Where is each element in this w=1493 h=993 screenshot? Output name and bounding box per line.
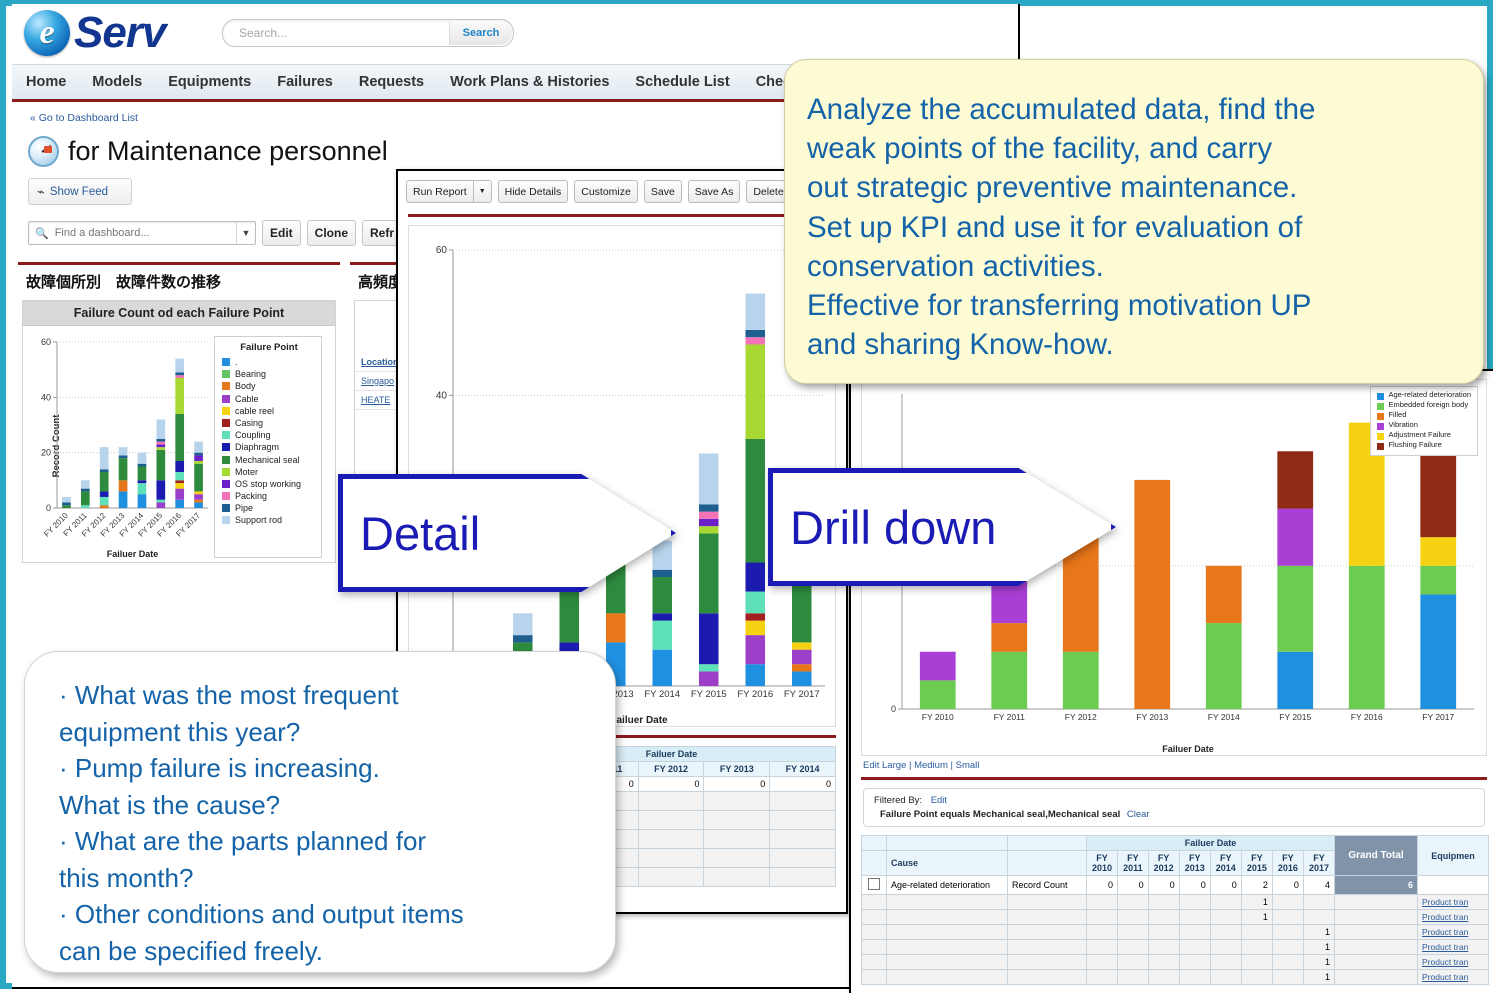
bar-segment <box>62 497 71 503</box>
filter-clear-link[interactable]: Clear <box>1127 809 1150 820</box>
cell <box>887 910 1008 925</box>
detail-year-head: FY 2013 <box>704 762 770 777</box>
legend-label: Pipe <box>235 503 253 513</box>
bar-segment <box>119 480 128 491</box>
search-input[interactable] <box>237 25 449 41</box>
filter-panel: Filtered By: Edit Failure Point equals M… <box>863 788 1485 827</box>
cell <box>1210 970 1241 985</box>
svg-text:0: 0 <box>46 503 51 513</box>
bar-segment <box>138 494 147 508</box>
drilldown-pivot-table: Failuer Date Grand Total Equipmen Cause … <box>861 835 1489 985</box>
bar-segment <box>991 652 1027 709</box>
app-header: Serv Search <box>12 4 1018 64</box>
measure-col-head-blank <box>1008 836 1087 851</box>
legend-swatch <box>1377 393 1384 400</box>
cell <box>1335 925 1418 940</box>
customize-button[interactable]: Customize <box>574 180 638 203</box>
bar-segment <box>175 359 184 373</box>
cell <box>1087 925 1118 940</box>
bar-segment <box>745 562 765 591</box>
equipment-cell[interactable]: Product tran <box>1418 895 1489 910</box>
bar-segment <box>991 623 1027 652</box>
bar-segment <box>1206 566 1242 623</box>
legend-swatch <box>1377 403 1384 410</box>
cell <box>862 940 887 955</box>
bar-segment <box>119 455 128 458</box>
cause-col-head: Cause <box>887 851 1008 876</box>
table-row: 1Product tran <box>862 940 1489 955</box>
cell: 1 <box>1241 910 1272 925</box>
chart1-plot: Record Count 0204060FY 2010FY 2011FY 201… <box>27 332 212 560</box>
note-line: out strategic preventive maintenance. <box>807 168 1457 207</box>
bar-segment <box>559 592 579 643</box>
cause-cell: Age-related deterioration <box>887 876 1008 895</box>
find-dashboard-combo[interactable]: 🔍 ▼ <box>28 221 256 245</box>
dd-year-head: FY 2013 <box>1179 851 1210 876</box>
legend-item: OS stop working <box>222 479 316 489</box>
bar-segment <box>175 489 184 500</box>
bar-segment <box>652 650 672 686</box>
bar-segment <box>699 504 719 511</box>
legend-label: Mechanical seal <box>235 455 300 465</box>
question-line: · What are the parts planned for <box>59 824 591 859</box>
cell <box>887 925 1008 940</box>
cell <box>862 970 887 985</box>
filter-edit-link[interactable]: Edit <box>931 795 947 806</box>
find-dashboard-input[interactable] <box>53 226 236 240</box>
cell <box>1335 970 1418 985</box>
bar-segment <box>194 464 203 492</box>
legend-swatch <box>1377 423 1384 430</box>
bar-segment <box>100 491 109 497</box>
legend-item: Packing <box>222 491 316 501</box>
question-line: equipment this year? <box>59 715 591 750</box>
bar-segment <box>194 453 203 456</box>
cell <box>1148 925 1179 940</box>
bar-segment <box>194 461 203 464</box>
bar-segment <box>1277 652 1313 709</box>
callout-note: Analyze the accumulated data, find the w… <box>784 59 1484 384</box>
nav-item-models[interactable]: Models <box>92 74 142 90</box>
chart-small-link[interactable]: Small <box>956 760 980 771</box>
eserv-logo-text: Serv <box>74 11 165 55</box>
bar-segment <box>792 664 812 671</box>
legend-item: Cable <box>222 394 316 404</box>
legend-swatch <box>222 480 230 488</box>
bar-segment <box>699 526 719 533</box>
bar-segment <box>1206 623 1242 709</box>
detail-arrow-label: Detail <box>338 474 676 592</box>
bar-segment <box>1063 652 1099 709</box>
svg-text:FY 2017: FY 2017 <box>784 689 820 700</box>
legend-item: Moter <box>222 467 316 477</box>
legend-label: Vibration <box>1388 421 1417 430</box>
svg-text:FY 2014: FY 2014 <box>644 689 680 700</box>
cell <box>1087 955 1118 970</box>
bar-segment <box>745 344 765 438</box>
question-line: What is the cause? <box>59 788 591 823</box>
bar-segment <box>156 480 165 499</box>
cell <box>862 895 887 910</box>
note-line: weak points of the facility, and carry <box>807 129 1457 168</box>
product-link[interactable]: Product tran <box>1422 897 1468 907</box>
legend-item: Filled <box>1377 411 1471 420</box>
product-link[interactable]: Product tran <box>1422 927 1468 937</box>
value-cell: 0 <box>1272 876 1303 895</box>
bar-segment <box>81 505 90 508</box>
legend-swatch <box>222 468 230 476</box>
question-line: can be specified freely. <box>59 934 591 969</box>
legend-item: Pipe <box>222 503 316 513</box>
bar-segment <box>62 505 71 508</box>
cell <box>1148 955 1179 970</box>
bar-segment <box>699 453 719 504</box>
bar-segment <box>175 500 184 508</box>
bar-segment <box>513 635 533 642</box>
cell <box>887 970 1008 985</box>
bar-segment <box>119 447 128 455</box>
legend-swatch <box>1377 413 1384 420</box>
cell <box>887 895 1008 910</box>
legend-label: OS stop working <box>235 479 301 489</box>
bar-segment <box>699 512 719 519</box>
legend-label: Filled <box>1388 411 1406 420</box>
bar-segment <box>1277 566 1313 652</box>
dd-year-head: FY 2012 <box>1148 851 1179 876</box>
bar-segment <box>156 439 165 442</box>
svg-text:60: 60 <box>436 245 448 256</box>
drilldown-arrow: Drill down <box>768 468 1116 586</box>
report-toolbar: Run Report ▼ Hide Details Customize Save… <box>398 171 846 212</box>
cell <box>1118 925 1149 940</box>
cell <box>1272 910 1303 925</box>
svg-text:20: 20 <box>41 448 51 458</box>
legend-swatch <box>222 456 230 464</box>
bar-segment <box>745 337 765 344</box>
cell <box>1272 895 1303 910</box>
table-row: 1Product tran <box>862 955 1489 970</box>
bar-segment <box>156 442 165 445</box>
value-cell: 0 <box>1118 876 1149 895</box>
bar-segment <box>138 483 147 494</box>
bar-segment <box>175 372 184 375</box>
row-checkbox-cell[interactable] <box>862 876 887 895</box>
bar-segment <box>699 533 719 613</box>
cell <box>862 910 887 925</box>
legend-swatch <box>222 516 230 524</box>
show-feed-button[interactable]: ⌁ Show Feed <box>28 178 132 205</box>
panel-failure-count-title: 故障個所別 故障件数の推移 <box>18 265 340 300</box>
bar-segment <box>699 519 719 526</box>
bar-segment <box>81 489 90 492</box>
cell <box>1087 970 1118 985</box>
run-report-button[interactable]: Run Report ▼ <box>406 180 492 203</box>
legend-swatch <box>1377 443 1384 450</box>
value-cell: 0 <box>1210 876 1241 895</box>
equipment-cell[interactable]: Product tran <box>1418 955 1489 970</box>
cell <box>1008 910 1087 925</box>
legend-label: Moter <box>235 467 258 477</box>
divider <box>408 214 836 217</box>
feed-icon: ⌁ <box>37 184 45 200</box>
bar-segment <box>745 621 765 636</box>
bar-segment <box>81 491 90 505</box>
cell <box>1179 895 1210 910</box>
legend-swatch <box>222 358 230 366</box>
bar-segment <box>1420 537 1456 566</box>
bar-segment <box>100 497 109 505</box>
clone-button[interactable]: Clone <box>307 220 356 246</box>
table-row: 1Product tran <box>862 970 1489 985</box>
legend-swatch <box>222 419 230 427</box>
dd-group-header: Failuer Date <box>1087 836 1335 851</box>
bar-segment <box>156 447 165 450</box>
nav-item-schedule-list[interactable]: Schedule List <box>635 74 729 90</box>
bar-segment <box>175 414 184 461</box>
cell <box>1241 955 1272 970</box>
svg-text:60: 60 <box>41 337 51 347</box>
bar-segment <box>156 502 165 508</box>
legend-item: Embedded foreign body <box>1377 401 1471 410</box>
bar-segment <box>156 419 165 438</box>
bar-segment <box>745 330 765 337</box>
cell <box>1179 940 1210 955</box>
bar-segment <box>81 480 90 488</box>
search-icon: 🔍 <box>35 227 49 240</box>
search-button[interactable]: Search <box>449 21 512 45</box>
legend-item: Age-related deterioration <box>1377 391 1471 400</box>
nav-item-equipments[interactable]: Equipments <box>168 74 251 90</box>
table-row: Failuer Date Grand Total Equipmen <box>862 836 1489 851</box>
legend-swatch <box>222 395 230 403</box>
bar-segment <box>175 378 184 414</box>
question-line: · Other conditions and output items <box>59 897 591 932</box>
dd-year-head: FY 2015 <box>1241 851 1272 876</box>
cause-col-head-blank <box>887 836 1008 851</box>
chevron-down-icon[interactable]: ▼ <box>473 181 491 202</box>
svg-text:FY 2015: FY 2015 <box>1279 712 1311 722</box>
cell <box>1008 970 1087 985</box>
global-search[interactable]: Search <box>222 19 514 47</box>
equipment-cell <box>1418 876 1489 895</box>
legend-label: Age-related deterioration <box>1388 391 1471 400</box>
value-cell: 4 <box>1303 876 1334 895</box>
legend-swatch <box>1377 433 1384 440</box>
svg-text:0: 0 <box>891 704 896 714</box>
cell <box>1335 955 1418 970</box>
svg-text:FY 2013: FY 2013 <box>1136 712 1168 722</box>
show-feed-label: Show Feed <box>50 186 108 198</box>
bar-segment <box>1420 594 1456 709</box>
chevron-down-icon[interactable]: ▼ <box>236 222 255 244</box>
bar-segment <box>792 650 812 665</box>
svg-text:FY 2012: FY 2012 <box>1065 712 1097 722</box>
legend-label: Embedded foreign body <box>1388 401 1468 410</box>
filter-expression: Failure Point equals Mechanical seal,Mec… <box>880 809 1120 820</box>
bar-segment <box>745 664 765 686</box>
legend-item: Bearing <box>222 369 316 379</box>
bar-segment <box>100 472 109 491</box>
drilldown-window: 05FY 2010FY 2011FY 2012FY 2013FY 2014FY … <box>849 369 1493 993</box>
legend-swatch <box>222 382 230 390</box>
legend-label: Casing <box>235 418 263 428</box>
value-cell: 0 <box>1179 876 1210 895</box>
legend-label: Diaphragm <box>235 442 279 452</box>
legend-label: Packing <box>235 491 267 501</box>
svg-text:40: 40 <box>436 390 448 401</box>
svg-text:FY 2017: FY 2017 <box>1422 712 1454 722</box>
nav-item-work-plans[interactable]: Work Plans & Histories <box>450 74 609 90</box>
drilldown-arrow-label: Drill down <box>768 468 1116 586</box>
chart-medium-link[interactable]: Medium <box>914 760 948 771</box>
bar-segment <box>100 505 109 508</box>
legend-item: . <box>222 357 316 367</box>
legend-item: Body <box>222 381 316 391</box>
value-cell: 2 <box>1241 876 1272 895</box>
cell <box>1272 940 1303 955</box>
edit-button[interactable]: Edit <box>262 220 301 246</box>
legend-label: Bearing <box>235 369 266 379</box>
cell <box>1210 910 1241 925</box>
bar-segment <box>194 500 203 503</box>
bar-segment <box>100 447 109 469</box>
equipment-cell[interactable]: Product tran <box>1418 970 1489 985</box>
cell <box>1303 910 1334 925</box>
save-button[interactable]: Save <box>644 180 682 203</box>
legend-swatch <box>222 504 230 512</box>
save-as-button[interactable]: Save As <box>688 180 741 203</box>
cell <box>887 940 1008 955</box>
dd-year-head: FY 2016 <box>1272 851 1303 876</box>
cell <box>1210 925 1241 940</box>
cell <box>1241 970 1272 985</box>
bar-segment <box>745 635 765 664</box>
legend-swatch <box>222 431 230 439</box>
bar-segment <box>138 453 147 464</box>
cell <box>1335 910 1418 925</box>
legend-item: Mechanical seal <box>222 455 316 465</box>
bar-segment <box>138 467 147 481</box>
cell <box>1272 955 1303 970</box>
legend-item: Diaphragm <box>222 442 316 452</box>
nav-item-failures[interactable]: Failures <box>277 74 333 90</box>
cell <box>1210 955 1241 970</box>
detail-cell: 0 <box>770 777 836 792</box>
grand-total-header: Grand Total <box>1335 836 1418 876</box>
chart-large-link[interactable]: Large <box>882 760 906 771</box>
bar-segment <box>699 664 719 671</box>
bar-segment <box>175 483 184 489</box>
bar-segment <box>745 613 765 620</box>
panel-failure-count-body: Failure Count od each Failure Point Reco… <box>22 300 336 563</box>
bar-segment <box>699 671 719 686</box>
detail-cell: 0 <box>704 777 770 792</box>
bar-segment <box>745 592 765 614</box>
chart-edit-link[interactable]: Edit <box>863 760 879 771</box>
bar-segment <box>1134 480 1170 709</box>
nav-item-home[interactable]: Home <box>26 74 66 90</box>
measure-cell: Record Count <box>1008 876 1087 895</box>
cell: 1 <box>1303 955 1334 970</box>
cell: 1 <box>1241 895 1272 910</box>
legend-label: Body <box>235 381 256 391</box>
equipment-cell[interactable]: Product tran <box>1418 910 1489 925</box>
bar-segment <box>175 375 184 378</box>
bar-segment <box>513 613 533 635</box>
chart1-legend: Failure Point .BearingBodyCablecable ree… <box>214 336 322 558</box>
legend-item: Support rod <box>222 515 316 525</box>
note-line: and sharing Know-how. <box>807 325 1457 364</box>
bar-segment <box>652 621 672 650</box>
nav-item-requests[interactable]: Requests <box>359 74 424 90</box>
bar-segment <box>194 502 203 508</box>
question-line: this month? <box>59 861 591 896</box>
measure-col-head <box>1008 851 1087 876</box>
cell <box>1272 970 1303 985</box>
bar-segment <box>62 502 71 505</box>
legend-label: Cable <box>235 394 259 404</box>
table-row: 1Product tran <box>862 895 1489 910</box>
cell <box>1148 970 1179 985</box>
svg-text:FY 2016: FY 2016 <box>737 689 773 700</box>
cell <box>1241 940 1272 955</box>
equipment-cell[interactable]: Product tran <box>1418 925 1489 940</box>
cell <box>1210 895 1241 910</box>
legend-label: . <box>235 357 238 367</box>
detail-year-head: FY 2014 <box>770 762 836 777</box>
bar-segment <box>920 652 956 681</box>
dd-year-head: FY 2011 <box>1118 851 1149 876</box>
hide-details-button[interactable]: Hide Details <box>498 180 569 203</box>
product-link[interactable]: Product tran <box>1422 972 1468 982</box>
svg-text:Failuer Date: Failuer Date <box>1162 744 1214 754</box>
equipment-cell[interactable]: Product tran <box>1418 940 1489 955</box>
cell <box>1087 910 1118 925</box>
bar-segment <box>175 480 184 483</box>
row-checkbox[interactable] <box>868 878 880 890</box>
svg-text:Failuer Date: Failuer Date <box>107 549 159 559</box>
legend-item: Flushing Failure <box>1377 441 1471 450</box>
bar-segment <box>792 671 812 686</box>
legend-swatch <box>222 492 230 500</box>
product-link[interactable]: Product tran <box>1422 942 1468 952</box>
bar-segment <box>1349 566 1385 709</box>
product-link[interactable]: Product tran <box>1422 957 1468 967</box>
product-link[interactable]: Product tran <box>1422 912 1468 922</box>
svg-text:40: 40 <box>41 392 51 402</box>
cell <box>1087 940 1118 955</box>
eserv-logo: Serv <box>24 6 165 60</box>
value-cell: 0 <box>1087 876 1118 895</box>
bar-segment <box>194 455 203 461</box>
cell <box>1241 925 1272 940</box>
bar-segment <box>194 494 203 500</box>
legend-label: Support rod <box>235 515 282 525</box>
cell <box>1210 940 1241 955</box>
bar-segment <box>1277 509 1313 566</box>
svg-text:FY 2011: FY 2011 <box>994 712 1026 722</box>
cell <box>862 955 887 970</box>
legend-label: cable reel <box>235 406 274 416</box>
cell <box>1118 970 1149 985</box>
select-col-head <box>862 836 887 851</box>
cell <box>862 925 887 940</box>
cell <box>1335 940 1418 955</box>
cell <box>1179 955 1210 970</box>
cell <box>1179 925 1210 940</box>
cell: 1 <box>1303 940 1334 955</box>
cell <box>1148 910 1179 925</box>
